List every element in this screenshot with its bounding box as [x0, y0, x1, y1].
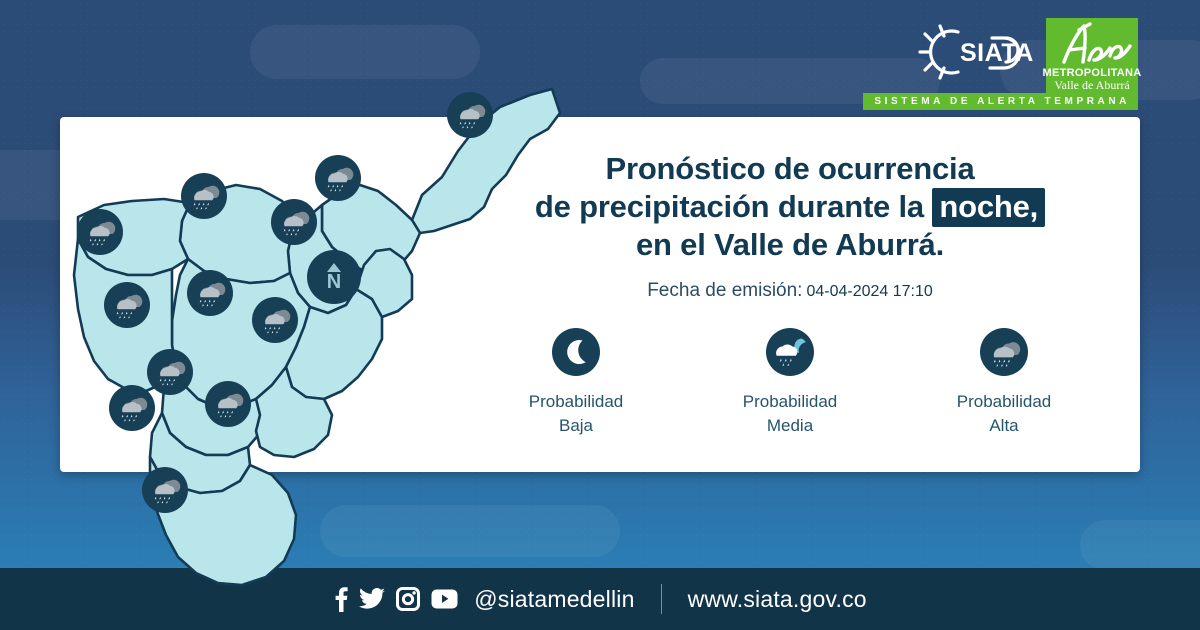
- moon-icon-glyph: [552, 328, 600, 376]
- title-line-2: de precipitación durante la noche,: [470, 188, 1110, 226]
- logo-group: SIATA METROPOLITANA Valle de Aburrá: [914, 18, 1138, 100]
- map-marker-medellin[interactable]: [187, 270, 233, 316]
- legend-item-media: Probabilidad Media: [715, 328, 865, 438]
- legend-caption-media: Probabilidad Media: [715, 390, 865, 438]
- map-marker-sabaneta[interactable]: [205, 381, 251, 427]
- map-marker-copacabana[interactable]: [271, 199, 317, 245]
- cloud-moon-rain-icon: [766, 328, 814, 376]
- north-arrow-icon: N: [307, 250, 361, 304]
- background-cloud-6: [1080, 520, 1200, 570]
- area-script-icon: [1052, 20, 1132, 66]
- legend-caption-baja: Probabilidad Baja: [501, 390, 651, 438]
- twitter-icon[interactable]: [359, 587, 385, 611]
- facebook-icon[interactable]: [333, 586, 348, 612]
- title-highlight-noche: noche,: [932, 188, 1045, 227]
- title-line-3: en el Valle de Aburrá.: [470, 226, 1110, 264]
- siata-logo-text: SIATA: [960, 39, 1034, 67]
- legend-item-alta: Probabilidad Alta: [929, 328, 1079, 438]
- compass-label: N: [327, 273, 341, 291]
- cloud-rain-icon: [980, 328, 1028, 376]
- instagram-icon[interactable]: [396, 587, 420, 611]
- legend-media-line2: Media: [715, 414, 865, 438]
- legend-caption-alta: Probabilidad Alta: [929, 390, 1079, 438]
- social-handle[interactable]: @siatamedellin: [474, 586, 634, 613]
- area-logo-line2: Valle de Aburrá: [1054, 79, 1129, 92]
- footer: @siatamedellin www.siata.gov.co: [0, 568, 1200, 630]
- tagline-banner: SISTEMA DE ALERTA TEMPRANA: [863, 93, 1138, 110]
- title-line-1: Pronóstico de ocurrencia: [470, 150, 1110, 188]
- social-icons: [333, 586, 458, 612]
- infographic-canvas: N Pronóstico de ocurrencia de precipitac…: [0, 0, 1200, 630]
- map-marker-bello[interactable]: [181, 173, 227, 219]
- legend-alta-line2: Alta: [929, 414, 1079, 438]
- website-url[interactable]: www.siata.gov.co: [688, 586, 867, 613]
- issue-date-value: 04-04-2024 17:10: [806, 283, 932, 300]
- valle-de-aburra-map: N: [60, 55, 550, 575]
- map-marker-caldas[interactable]: [142, 467, 188, 513]
- map-marker-la-estrella[interactable]: [109, 385, 155, 431]
- page-title: Pronóstico de ocurrencia de precipitació…: [470, 150, 1110, 264]
- footer-divider: [661, 584, 662, 614]
- youtube-icon[interactable]: [431, 589, 458, 609]
- moon-icon: [552, 328, 600, 376]
- legend-alta-line1: Probabilidad: [929, 390, 1079, 414]
- legend-baja-line2: Baja: [501, 414, 651, 438]
- area-metropolitana-logo: METROPOLITANA Valle de Aburrá: [1046, 18, 1138, 100]
- map-marker-san-jeronimo[interactable]: [104, 282, 150, 328]
- probability-legend: Probabilidad Baja Probabilidad Media: [470, 328, 1110, 438]
- cloud-rain-icon-glyph: [980, 328, 1028, 376]
- legend-baja-line1: Probabilidad: [501, 390, 651, 414]
- map-marker-girardota[interactable]: [315, 155, 361, 201]
- map-marker-envigado[interactable]: [252, 297, 298, 343]
- legend-media-line1: Probabilidad: [715, 390, 865, 414]
- map-marker-san-pedro[interactable]: [77, 209, 123, 255]
- cloud-moon-rain-icon-glyph: [766, 328, 814, 376]
- siata-logo: SIATA: [914, 18, 1036, 88]
- legend-item-baja: Probabilidad Baja: [501, 328, 651, 438]
- issue-date-label: Fecha de emisión:: [647, 280, 802, 301]
- title-line-2-text: de precipitación durante la: [535, 189, 924, 224]
- map-marker-barbosa[interactable]: [447, 92, 493, 138]
- forecast-text-block: Pronóstico de ocurrencia de precipitació…: [470, 150, 1110, 302]
- issue-date: Fecha de emisión:04-04-2024 17:10: [470, 280, 1110, 302]
